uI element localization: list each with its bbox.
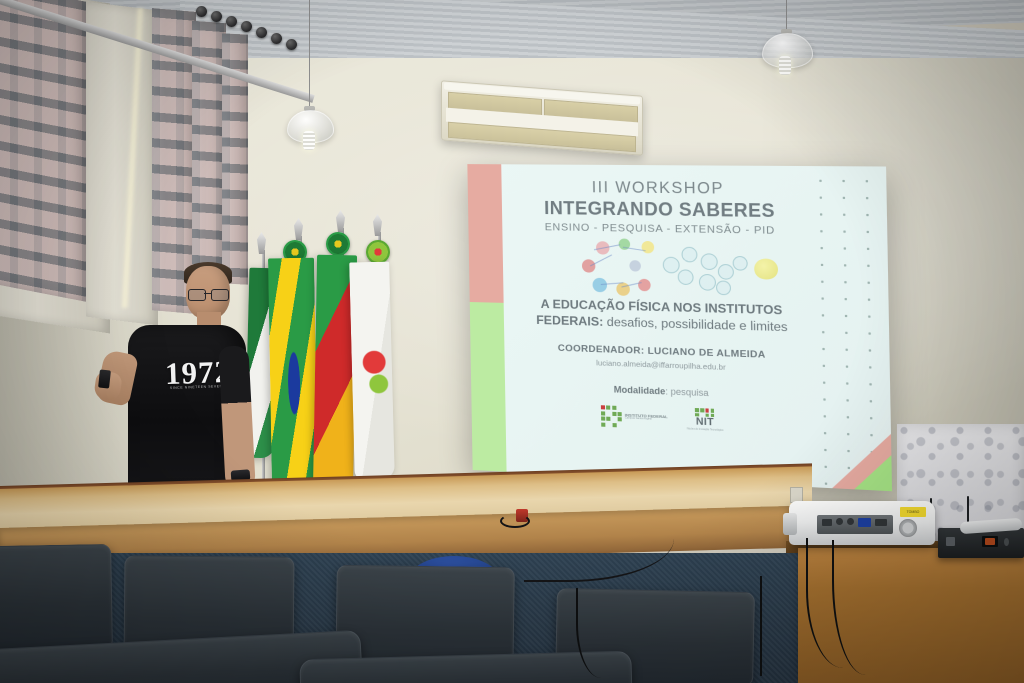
slide-event-number: III WORKSHOP bbox=[507, 178, 813, 199]
flag-rosette bbox=[366, 240, 390, 264]
nit-logo: NIT Núcleo de Inovação Tecnológica bbox=[686, 408, 723, 432]
slide-content: III WORKSHOP INTEGRANDO SABERES ENSINO -… bbox=[507, 170, 819, 483]
slide-accent-bar-green bbox=[470, 302, 507, 472]
nit-logo-subtext: Núcleo de Inovação Tecnológica bbox=[687, 428, 724, 433]
curtain-grommet bbox=[286, 39, 297, 50]
slide-event-axes: ENSINO - PESQUISA - EXTENSÃO - PID bbox=[508, 221, 814, 238]
curtain-grommet bbox=[226, 16, 237, 27]
curtain-panel-1 bbox=[0, 0, 86, 302]
projection-screen: III WORKSHOP INTEGRANDO SABERES ENSINO -… bbox=[467, 164, 892, 491]
curtain-grommet bbox=[241, 21, 252, 32]
projector-lens bbox=[783, 513, 797, 535]
curtain-grommet bbox=[271, 33, 282, 44]
instituto-federal-logo: INSTITUTO FEDERAL Campus Santa Angelo bbox=[600, 405, 668, 429]
projector-asset-label: TOMBO bbox=[900, 507, 926, 517]
curtain-grommet bbox=[256, 27, 267, 38]
idea-network-lightbulb-graphic bbox=[508, 236, 815, 296]
slide-event-name: INTEGRANDO SABERES bbox=[508, 197, 814, 222]
curtain-grommet bbox=[196, 6, 207, 17]
slide-corner-green bbox=[854, 453, 892, 491]
flag-brazil bbox=[268, 258, 318, 491]
slide-modality: Modalidade: pesquisa bbox=[511, 381, 817, 403]
slide-logos: INSTITUTO FEDERAL Campus Santa Angelo NI… bbox=[511, 401, 818, 437]
curtain-grommet bbox=[211, 11, 222, 22]
lightbulb-icon bbox=[754, 258, 778, 279]
auditorium-scene: III WORKSHOP INTEGRANDO SABERES ENSINO -… bbox=[0, 0, 1024, 683]
projector-port-panel bbox=[817, 515, 893, 534]
lamp-bulb-icon bbox=[779, 56, 791, 75]
presentation-slide: III WORKSHOP INTEGRANDO SABERES ENSINO -… bbox=[467, 164, 892, 491]
slide-accent-bar-pink bbox=[467, 164, 503, 302]
lamp-bulb-icon bbox=[303, 131, 315, 150]
slide-presentation-title: A EDUCAÇÃO FÍSICA NOS INSTITUTOS FEDERAI… bbox=[510, 296, 817, 336]
projector-speaker bbox=[899, 519, 917, 537]
flag-institutional-white bbox=[349, 262, 395, 481]
flag-rosette bbox=[326, 232, 350, 256]
chair-back[interactable] bbox=[0, 544, 113, 652]
presenter-glasses bbox=[188, 289, 229, 299]
presenter-remote-clicker bbox=[98, 369, 111, 388]
